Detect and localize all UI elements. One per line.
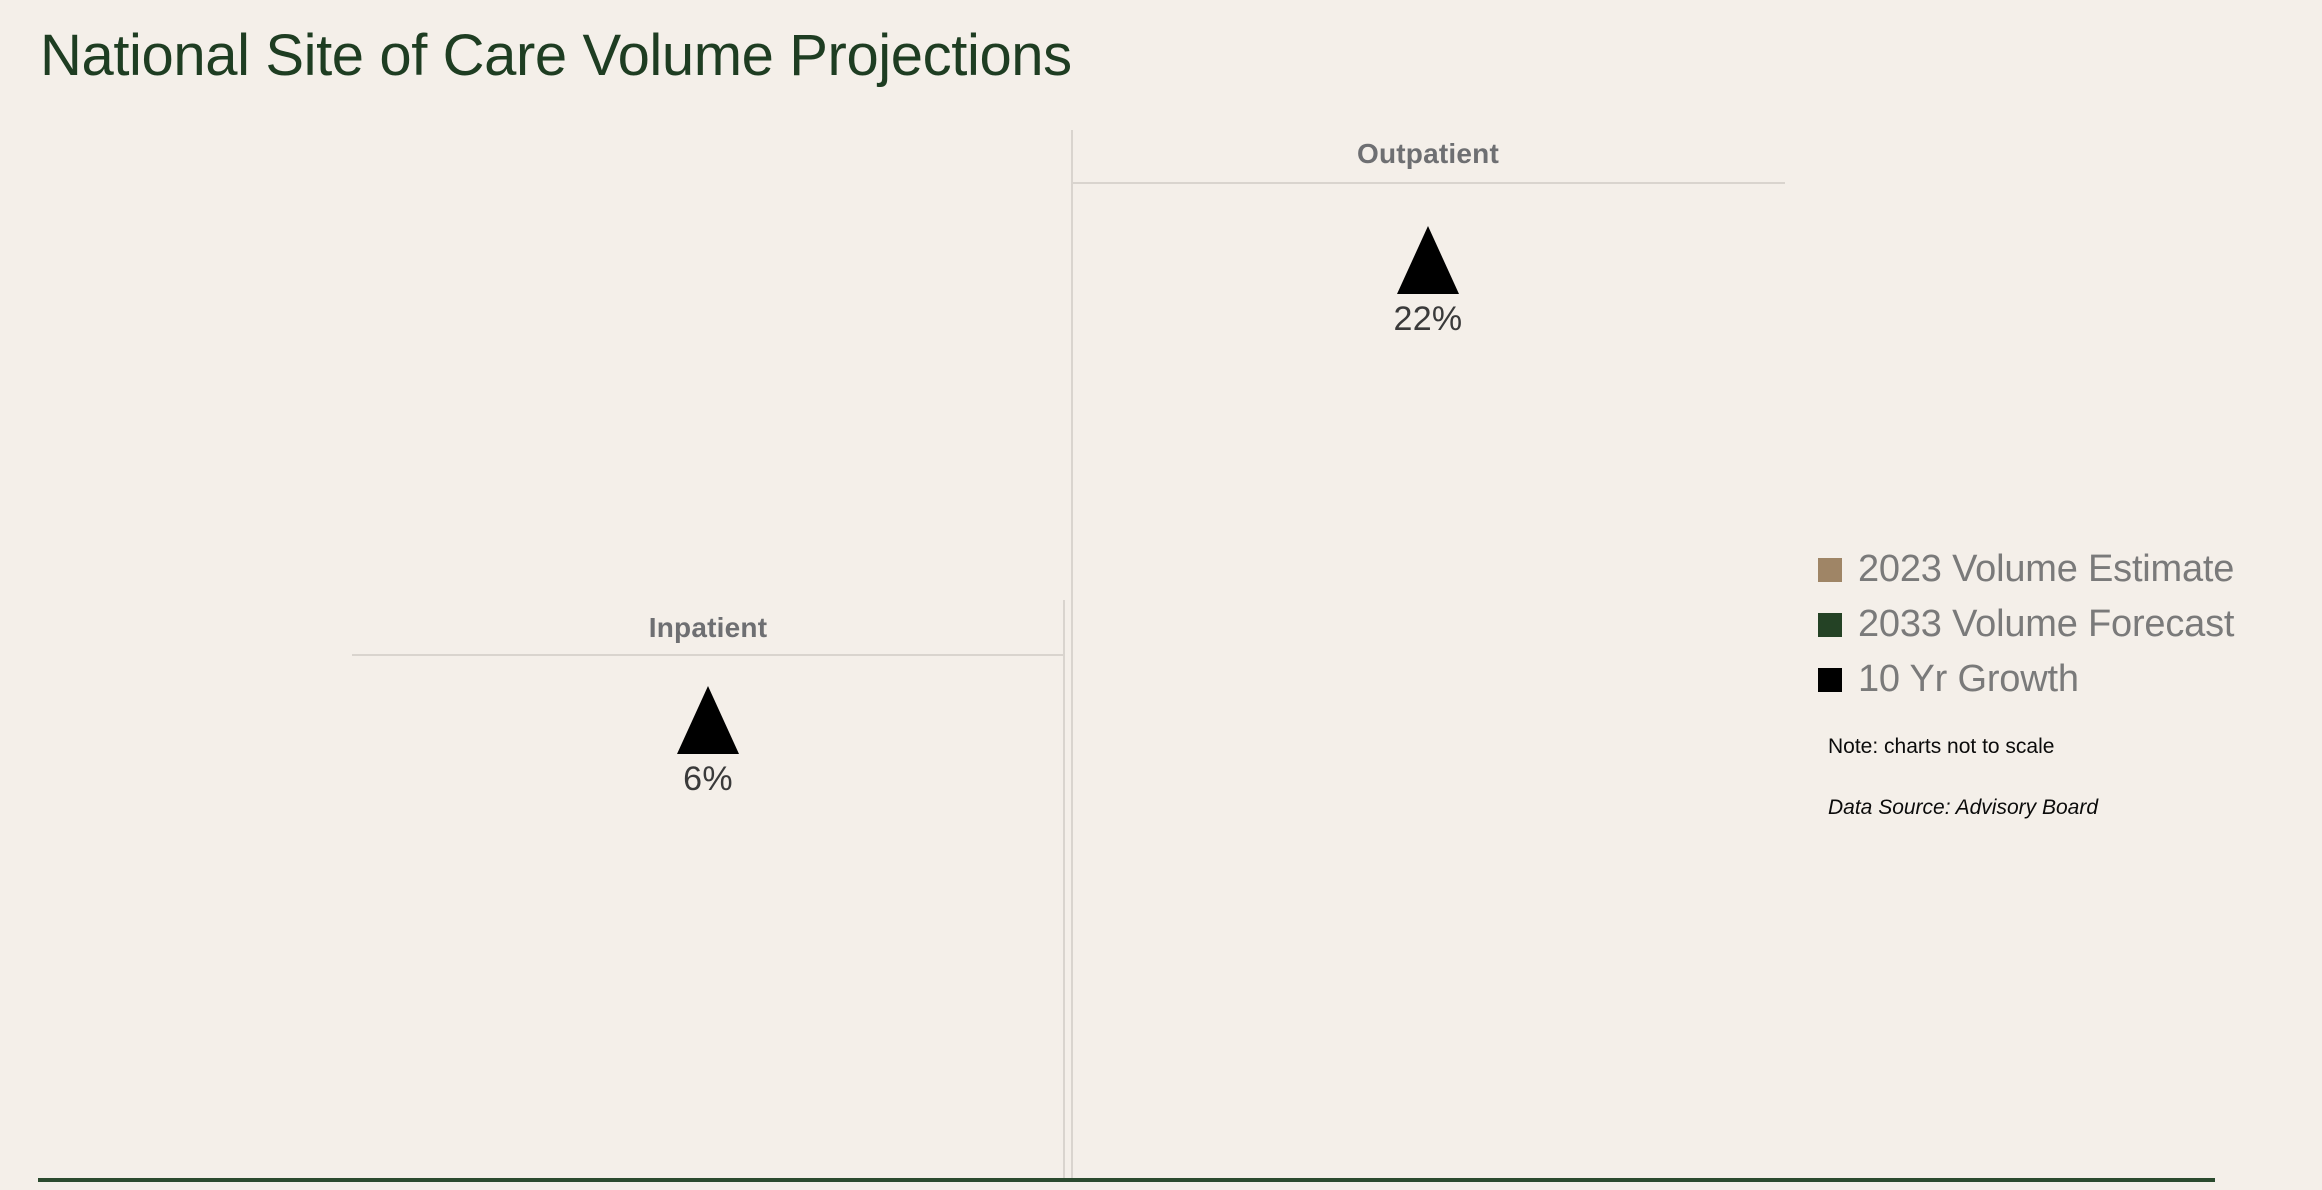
growth-value-outpatient: 22% [1328, 300, 1528, 339]
up-triangle-icon [1397, 226, 1459, 294]
panel-rule-outpatient [1072, 182, 1785, 184]
growth-marker-inpatient: 6% [608, 686, 808, 799]
growth-value-inpatient: 6% [608, 760, 808, 799]
data-source-caption: Data Source: Advisory Board [1828, 796, 2098, 820]
chart-legend: 2023 Volume Estimate 2033 Volume Forecas… [1818, 542, 2298, 707]
panel-divider-inpatient [1063, 600, 1065, 1178]
panel-title-outpatient: Outpatient [1357, 138, 1499, 170]
bottom-accent-rule [38, 1178, 2215, 1182]
legend-item-10-yr-growth: 10 Yr Growth [1818, 652, 2298, 707]
legend-swatch-icon-2023-volume-estimate [1818, 558, 1842, 582]
panel-divider-outpatient [1071, 130, 1073, 1178]
legend-label-2033-volume-forecast: 2033 Volume Forecast [1858, 603, 2234, 646]
page-title: National Site of Care Volume Projections [40, 24, 1072, 89]
panel-rule-inpatient [352, 654, 1064, 656]
panel-title-inpatient: Inpatient [649, 612, 767, 644]
slide-canvas: National Site of Care Volume Projections… [0, 0, 2322, 1190]
legend-item-2023-volume-estimate: 2023 Volume Estimate [1818, 542, 2298, 597]
legend-swatch-icon-10-yr-growth [1818, 668, 1842, 692]
chart-note: Note: charts not to scale [1828, 735, 2054, 759]
legend-label-2023-volume-estimate: 2023 Volume Estimate [1858, 548, 2234, 591]
growth-marker-outpatient: 22% [1328, 226, 1528, 339]
legend-label-10-yr-growth: 10 Yr Growth [1858, 658, 2079, 701]
legend-item-2033-volume-forecast: 2033 Volume Forecast [1818, 597, 2298, 652]
legend-swatch-icon-2033-volume-forecast [1818, 613, 1842, 637]
up-triangle-icon [677, 686, 739, 754]
